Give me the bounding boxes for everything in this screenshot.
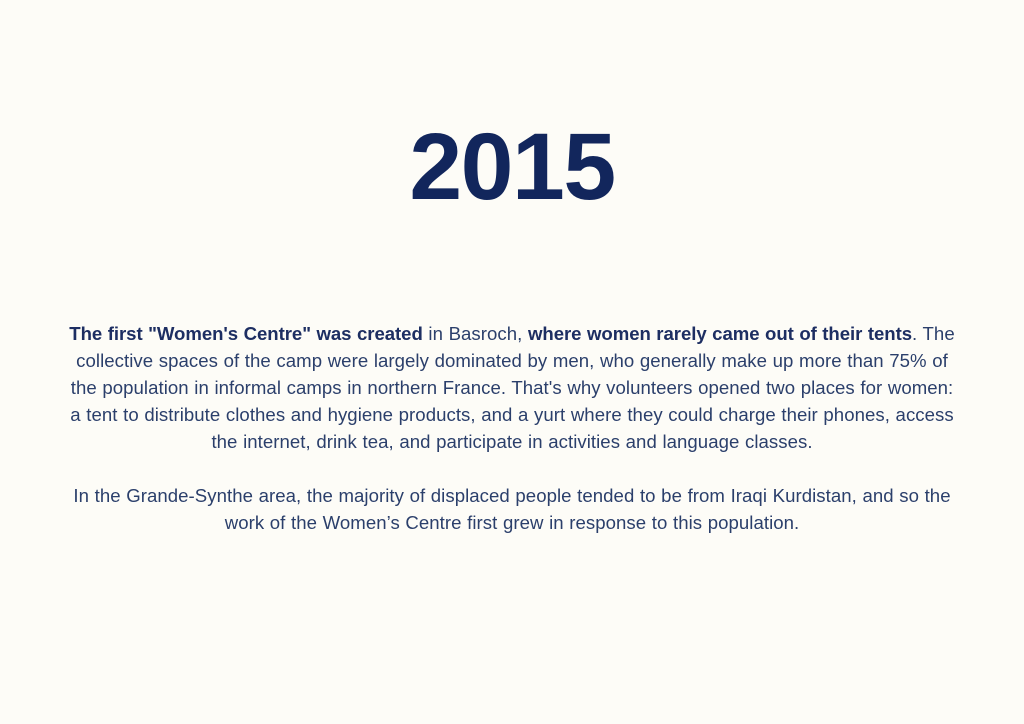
text-run-regular-1: in Basroch, (423, 323, 528, 344)
text-run-bold-2: where women rarely came out of their ten… (528, 323, 912, 344)
year-heading-block: 2015 (0, 118, 1024, 218)
slide-root: 2015 The first "Women's Centre" was crea… (0, 0, 1024, 724)
paragraph-2: In the Grande-Synthe area, the majority … (65, 482, 959, 536)
text-run-bold-0: The first "Women's Centre" was created (69, 323, 423, 344)
paragraph-1: The first "Women's Centre" was created i… (65, 320, 959, 455)
page-title: 2015 (0, 118, 1024, 218)
body-copy-block: The first "Women's Centre" was created i… (65, 320, 959, 536)
text-run-regular-0: In the Grande-Synthe area, the majority … (73, 485, 950, 533)
